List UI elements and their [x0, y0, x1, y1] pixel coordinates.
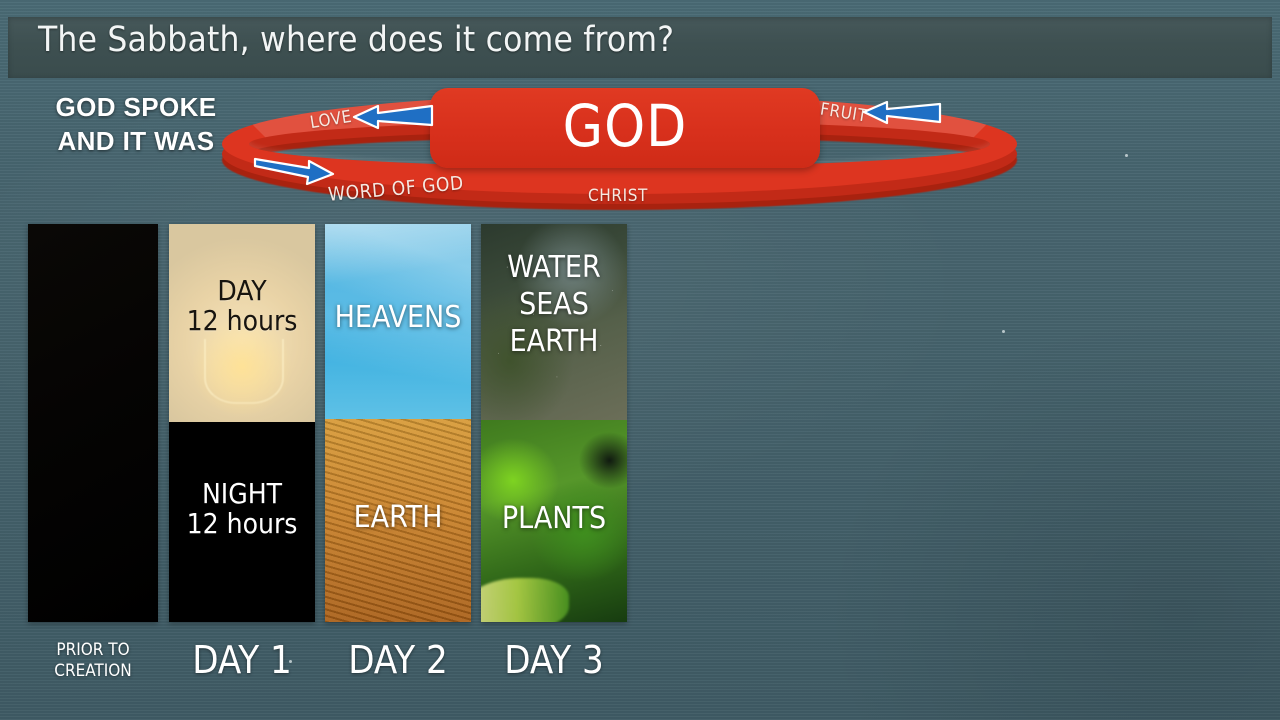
column-day-2[interactable]: HEAVENS EARTH [325, 224, 471, 622]
day1-light-cell: DAY 12 hours [169, 224, 315, 422]
word-of-god-arrow-icon [253, 155, 335, 187]
day2-earth-cell: EARTH [325, 419, 471, 622]
fruit-arrow-icon [862, 100, 942, 126]
caption-prior-to-creation: PRIOR TO CREATION [28, 640, 158, 682]
god-box: GOD [430, 88, 820, 168]
day1-night-cell: NIGHT 12 hours [169, 422, 315, 622]
god-label: GOD [430, 92, 820, 160]
day3-plants-cell: PLANTS [481, 420, 627, 622]
love-arrow-icon [352, 104, 434, 130]
caption-day-1: DAY 1 [169, 638, 315, 682]
day1-bottom-label: NIGHT 12 hours [169, 479, 315, 539]
dust-speck [1002, 330, 1005, 333]
day3-top-label: WATER SEAS EARTH [481, 249, 627, 360]
day3-bottom-label: PLANTS [481, 503, 627, 535]
dust-speck [1125, 154, 1128, 157]
column-prior-to-creation[interactable] [28, 224, 158, 622]
column-day-3[interactable]: WATER SEAS EARTH PLANTS [481, 224, 627, 622]
caption-day-3: DAY 3 [481, 638, 627, 682]
ring-label-christ: CHRIST [588, 186, 648, 206]
god-spoke-caption: GOD SPOKE AND IT WAS [36, 90, 236, 158]
day1-top-label: DAY 12 hours [169, 276, 315, 336]
caption-day-2: DAY 2 [325, 638, 471, 682]
day2-top-label: HEAVENS [325, 302, 471, 334]
day2-heavens-cell: HEAVENS [325, 224, 471, 419]
page-title: The Sabbath, where does it come from? [38, 20, 674, 60]
day3-water-cell: WATER SEAS EARTH [481, 224, 627, 420]
prior-to-creation-fill [28, 224, 158, 622]
day2-bottom-label: EARTH [325, 502, 471, 534]
column-day-1[interactable]: DAY 12 hours NIGHT 12 hours [169, 224, 315, 622]
